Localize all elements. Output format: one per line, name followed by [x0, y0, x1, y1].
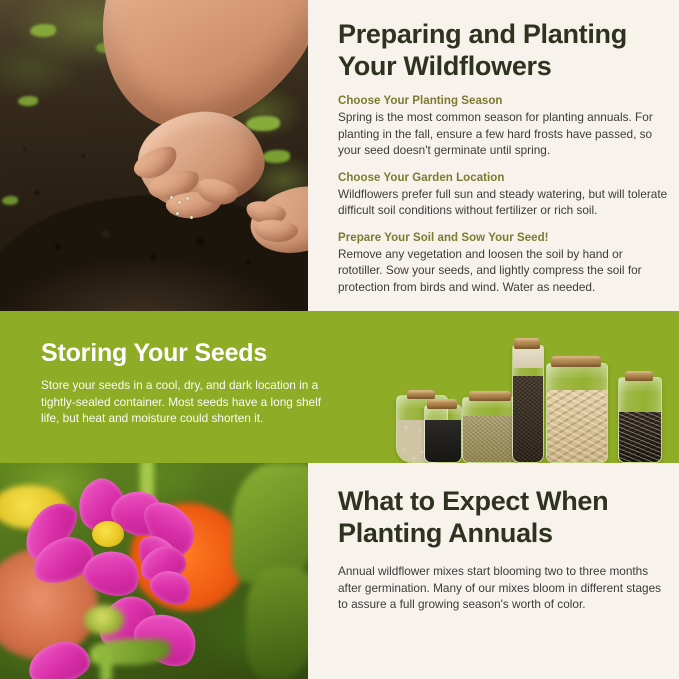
leaf-shape	[232, 463, 308, 583]
block-planting-season: Choose Your Planting Season Spring is th…	[338, 95, 669, 159]
section-preparing-and-planting: Preparing and Planting Your Wildflowers …	[0, 0, 679, 311]
jar-neck	[513, 346, 543, 368]
subheading-planting-season: Choose Your Planting Season	[338, 95, 669, 107]
jar-contents	[619, 412, 661, 462]
seed	[186, 197, 189, 200]
sprout-icon	[262, 150, 290, 163]
subheading-prepare-soil: Prepare Your Soil and Sow Your Seed!	[338, 232, 669, 244]
page-title: Preparing and Planting Your Wildflowers	[338, 0, 669, 82]
seed	[176, 212, 179, 215]
jar-large-pale-flakes	[546, 363, 608, 463]
sprout-icon	[246, 116, 280, 131]
body-garden-location: Wildflowers prefer full sun and steady w…	[338, 186, 669, 219]
section-what-to-expect: What to Expect When Planting Annuals Ann…	[0, 463, 679, 679]
jar-contents	[513, 376, 543, 462]
subheading-garden-location: Choose Your Garden Location	[338, 172, 669, 184]
cork-lid-icon	[625, 371, 653, 381]
expect-body: Annual wildflower mixes start blooming t…	[338, 563, 669, 613]
expect-heading: What to Expect When Planting Annuals	[338, 463, 669, 549]
jar-contents	[425, 420, 461, 462]
sprout-icon	[2, 196, 18, 205]
jar-contents	[463, 416, 519, 462]
storing-text-column: Storing Your Seeds Store your seeds in a…	[41, 339, 326, 427]
storing-body: Store your seeds in a cool, dry, and dar…	[41, 377, 326, 427]
flower-center	[92, 521, 124, 547]
cork-lid-icon	[551, 356, 601, 367]
flower-bud	[84, 605, 124, 635]
preparing-text-column: Preparing and Planting Your Wildflowers …	[338, 0, 669, 311]
storing-heading: Storing Your Seeds	[41, 339, 326, 368]
seed	[170, 196, 173, 199]
cork-lid-icon	[407, 390, 435, 399]
expect-text-column: What to Expect When Planting Annuals Ann…	[338, 463, 669, 679]
stem-shape	[100, 653, 112, 679]
seed	[190, 216, 193, 219]
jar-tall-dark-seeds	[512, 345, 544, 463]
block-prepare-soil: Prepare Your Soil and Sow Your Seed! Rem…	[338, 232, 669, 296]
seed	[178, 201, 181, 204]
jar-black-seeds	[424, 405, 462, 463]
leaf-shape	[246, 567, 308, 679]
cork-lid-icon	[469, 391, 511, 401]
body-prepare-soil: Remove any vegetation and loosen the soi…	[338, 246, 669, 296]
block-garden-location: Choose Your Garden Location Wildflowers …	[338, 172, 669, 219]
sprout-icon	[18, 96, 38, 106]
cork-lid-icon	[427, 399, 457, 409]
photo-seed-jars	[378, 320, 668, 463]
body-planting-season: Spring is the most common season for pla…	[338, 109, 669, 159]
jar-contents	[547, 390, 607, 462]
sprout-icon	[30, 24, 56, 37]
photo-pink-cosmos-flower	[0, 463, 308, 679]
cork-lid-icon	[514, 338, 540, 349]
photo-hand-sowing-seeds	[0, 0, 308, 311]
jar-striped-sunflower-seeds	[618, 377, 662, 463]
infographic-page: Preparing and Planting Your Wildflowers …	[0, 0, 679, 679]
